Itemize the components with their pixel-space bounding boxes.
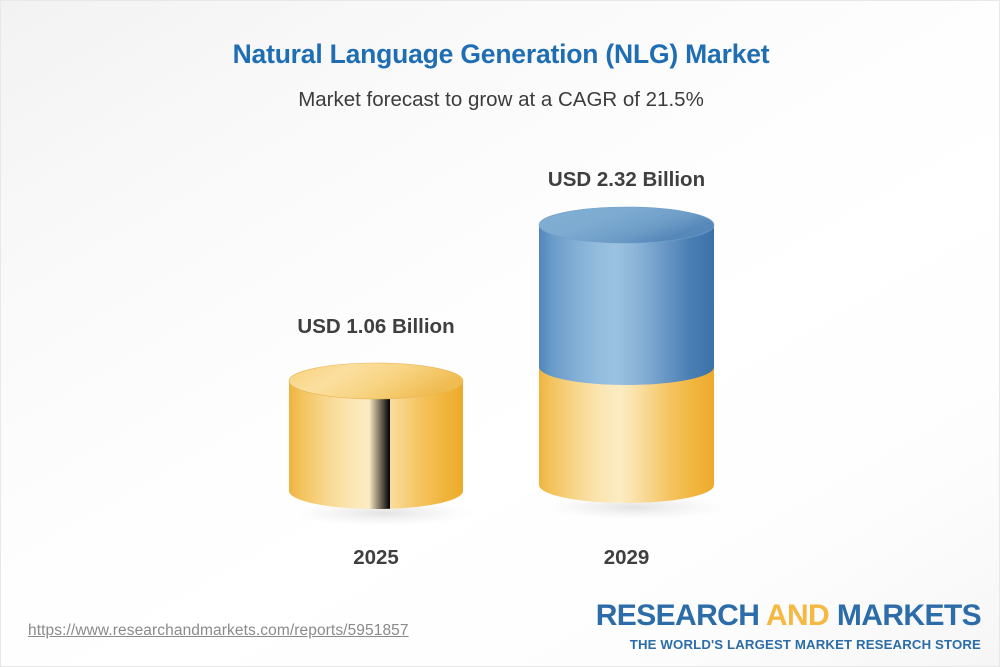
logo-word-and: AND [759,599,837,632]
research-and-markets-logo[interactable]: RESEARCH AND MARKETS THE WORLD'S LARGEST… [596,601,981,651]
cylinder-segment-growth-2029 [539,225,714,385]
bar-category-label-2029: 2029 [539,546,714,570]
bar-category-label-2025: 2025 [289,546,463,570]
logo-word-markets: MARKETS [837,599,981,632]
cylinder-2029 [539,207,714,517]
chart-plot-area: USD 1.06 Billion [1,1,1000,667]
cylinder-2025 [289,363,463,523]
bar-value-label-2025: USD 1.06 Billion [289,315,463,339]
logo-word-research: RESEARCH [596,599,760,632]
market-infographic: Natural Language Generation (NLG) Market… [0,0,1000,667]
logo-tagline: THE WORLD'S LARGEST MARKET RESEARCH STOR… [596,638,981,651]
bar-group-2025: USD 1.06 Billion [289,151,463,571]
cylinder-segment-base-2029 [539,367,714,503]
cylinder-top-2029 [539,207,714,243]
bar-value-label-2029: USD 2.32 Billion [539,168,714,192]
bar-group-2029: USD 2.32 Billion [539,151,714,571]
logo-wordmark: RESEARCH AND MARKETS [596,601,981,631]
report-url-link[interactable]: https://www.researchandmarkets.com/repor… [28,622,409,640]
cylinder-body-2025 [289,381,463,509]
cylinder-top-2025 [289,363,463,399]
